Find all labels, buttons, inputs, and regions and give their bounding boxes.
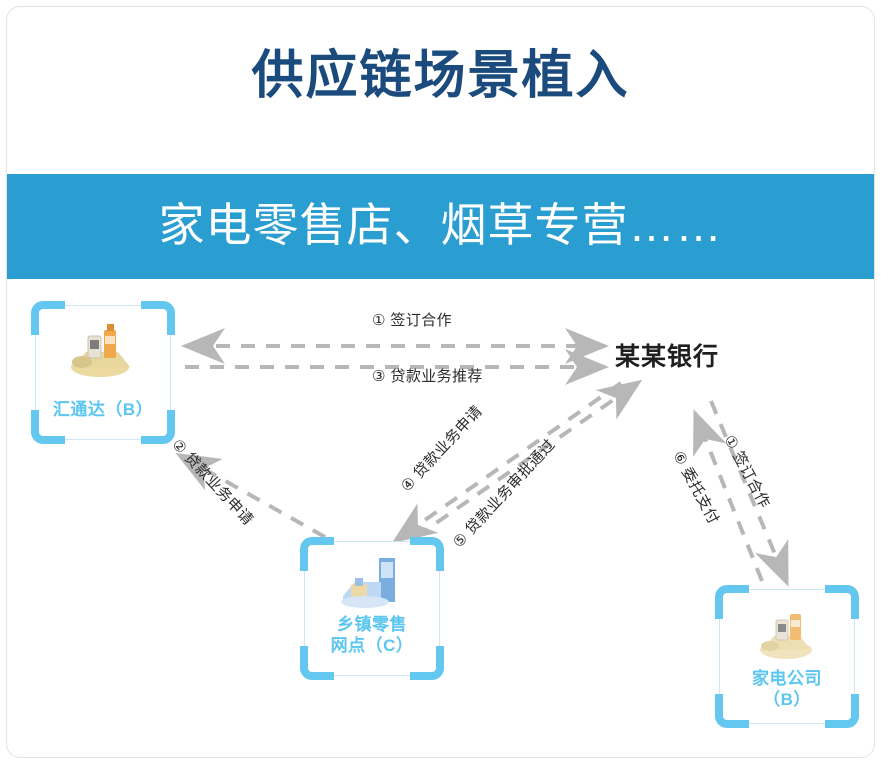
page-title: 供应链场景植入	[7, 45, 874, 107]
shop-counter-icon	[335, 552, 409, 612]
supply-chain-diagram: 汇通达（B） 某某银行 乡镇零售 网点（C）	[7, 279, 875, 758]
frame-corner-top-left-icon	[715, 585, 749, 619]
node-huitongda-label: 汇通达（B）	[36, 399, 170, 420]
frame-corner-top-left-icon	[300, 537, 334, 571]
edge-label-loan-recommendation: ③ 贷款业务推荐	[372, 365, 483, 386]
goods-stack-icon	[750, 604, 824, 664]
edge-label-sign-cooperation-top: ① 签订合作	[372, 309, 452, 330]
node-appliance-label-line2: （B）	[763, 690, 811, 709]
frame-corner-top-right-icon	[141, 301, 175, 335]
node-huitongda[interactable]: 汇通达（B）	[35, 305, 171, 440]
node-appliance-label-line1: 家电公司	[752, 669, 822, 688]
goods-stack-icon	[66, 322, 140, 382]
title-area: 供应链场景植入	[7, 7, 874, 174]
node-outlet-label-line1: 乡镇零售	[337, 615, 407, 634]
slide-card: 供应链场景植入 家电零售店、烟草专营……	[6, 6, 875, 758]
frame-corner-top-right-icon	[410, 537, 444, 571]
subtitle-banner: 家电零售店、烟草专营……	[7, 174, 874, 279]
frame-corner-top-right-icon	[825, 585, 859, 619]
node-outlet-label: 乡镇零售 网点（C）	[305, 614, 439, 657]
node-appliance-label: 家电公司 （B）	[720, 668, 854, 711]
node-outlet-label-line2: 网点（C）	[331, 636, 414, 655]
node-outlet[interactable]: 乡镇零售 网点（C）	[304, 541, 440, 676]
node-appliance[interactable]: 家电公司 （B）	[719, 589, 855, 724]
frame-corner-top-left-icon	[31, 301, 65, 335]
subtitle-text: 家电零售店、烟草专营……	[7, 192, 874, 259]
node-bank[interactable]: 某某银行	[615, 337, 719, 373]
